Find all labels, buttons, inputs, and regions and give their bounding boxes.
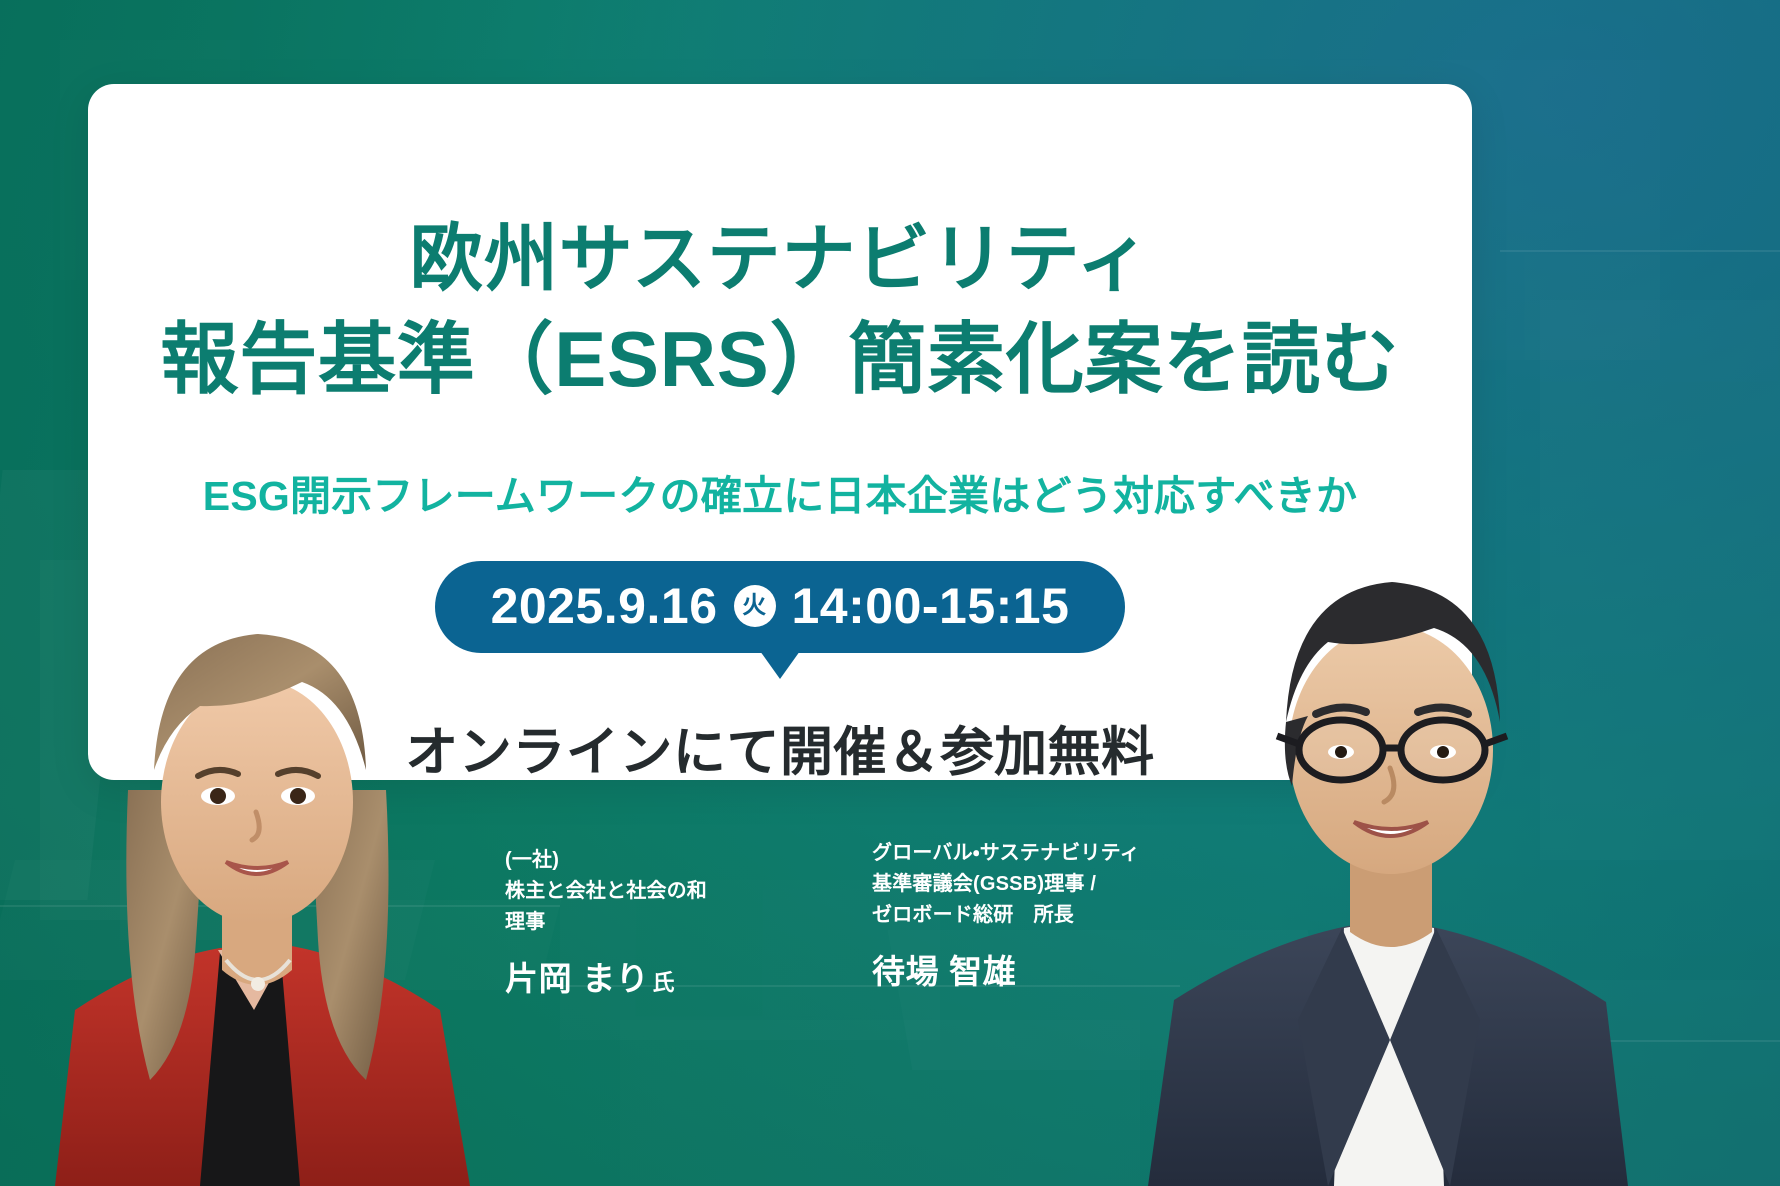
speaker-left-org-line-2: 理事 bbox=[505, 907, 835, 938]
speaker-right-name: 待場 智雄 bbox=[872, 945, 1172, 993]
webinar-banner: 欧州サステナビリティ 報告基準（ESRS）簡素化案を読む ESG開示フレームワー… bbox=[0, 0, 1780, 1186]
speaker-left-org: (一社) 株主と会社と社会の和 理事 bbox=[505, 845, 835, 938]
speaker-left-name-suffix: 氏 bbox=[652, 970, 675, 995]
speaker-right-photo bbox=[1128, 500, 1648, 1186]
speaker-left-org-line-1: 株主と会社と社会の和 bbox=[505, 876, 835, 907]
speaker-right-org: グローバル・サステナビリティ 基準審議会(GSSB)理事 / ゼロボード総研 所… bbox=[872, 838, 1172, 931]
portrait-woman-illustration bbox=[30, 540, 500, 1186]
title-line-2: 報告基準（ESRS）簡素化案を読む bbox=[88, 312, 1472, 407]
speaker-right-org-line-1: 基準審議会(GSSB)理事 / bbox=[872, 869, 1172, 900]
speaker-left-name: 片岡 まり氏 bbox=[505, 952, 835, 1000]
page-title: 欧州サステナビリティ 報告基準（ESRS）簡素化案を読む bbox=[88, 214, 1472, 407]
title-line-1: 欧州サステナビリティ bbox=[409, 217, 1150, 300]
speaker-left-name-text: 片岡 まり bbox=[505, 960, 649, 997]
speaker-right-caption: グローバル・サステナビリティ 基準審議会(GSSB)理事 / ゼロボード総研 所… bbox=[872, 838, 1172, 993]
speaker-right-org-line-2: ゼロボード総研 所長 bbox=[872, 900, 1172, 931]
speaker-right-name-text: 待場 智雄 bbox=[872, 953, 1016, 990]
speaker-left-caption: (一社) 株主と会社と社会の和 理事 片岡 まり氏 bbox=[505, 845, 835, 1000]
schedule-date: 2025.9.16 bbox=[491, 577, 718, 635]
speaker-right-org-line-0: グローバル・サステナビリティ bbox=[872, 838, 1172, 869]
schedule-time: 14:00-15:15 bbox=[792, 577, 1070, 635]
badge-tail-icon bbox=[760, 651, 800, 679]
portrait-man-illustration bbox=[1128, 500, 1648, 1186]
schedule-badge: 2025.9.16 火 14:00-15:15 bbox=[435, 561, 1126, 653]
speaker-left-photo bbox=[30, 540, 500, 1186]
speaker-left-org-line-0: (一社) bbox=[505, 845, 835, 876]
weekday-circle-icon: 火 bbox=[734, 585, 776, 627]
